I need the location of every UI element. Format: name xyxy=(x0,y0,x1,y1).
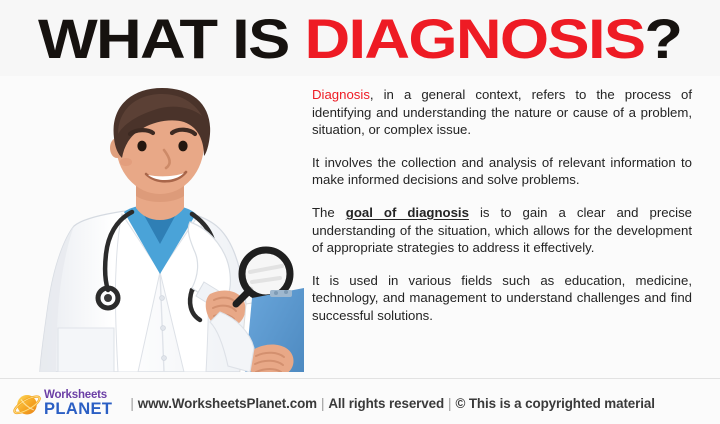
footer-separator-2: | xyxy=(444,396,455,411)
keyword-diagnosis: Diagnosis xyxy=(312,87,370,102)
paragraph-3: The goal of diagnosis is to gain a clear… xyxy=(312,204,692,257)
keyword-goal-of-diagnosis: goal of diagnosis xyxy=(346,205,469,220)
paragraph-2: It involves the collection and analysis … xyxy=(312,154,692,189)
paragraph-4: It is used in various fields such as edu… xyxy=(312,272,692,325)
paragraph-1-rest: , in a general context, refers to the pr… xyxy=(312,87,692,137)
definition-text-column: Diagnosis, in a general context, refers … xyxy=(312,86,692,325)
worksheets-planet-logo[interactable]: Worksheets PLANET xyxy=(12,389,112,419)
paragraph-3-before: The xyxy=(312,205,346,220)
copyright-icon: © xyxy=(455,396,465,411)
title-question-mark: ? xyxy=(645,7,682,70)
footer-bar: Worksheets PLANET |www.WorksheetsPlanet.… xyxy=(0,383,720,424)
footer-separator-0: | xyxy=(126,396,137,411)
clipboard-clip xyxy=(270,290,292,297)
footer-separator-1: | xyxy=(317,396,328,411)
footer-website[interactable]: www.WorksheetsPlanet.com xyxy=(138,396,317,411)
page-title: WHAT IS DIAGNOSIS? xyxy=(38,11,681,67)
title-part-red: DIAGNOSIS xyxy=(305,7,645,70)
doctor-illustration xyxy=(14,76,304,372)
footer-rights: All rights reserved xyxy=(328,396,444,411)
footer-divider xyxy=(0,378,720,379)
title-part-black: WHAT IS xyxy=(38,7,304,70)
logo-wordmark: Worksheets PLANET xyxy=(44,390,112,417)
footer-credits: |www.WorksheetsPlanet.com|All rights res… xyxy=(126,396,654,411)
title-banner: WHAT IS DIAGNOSIS? xyxy=(0,0,720,76)
paragraph-1: Diagnosis, in a general context, refers … xyxy=(312,86,692,139)
logo-bottom-line: PLANET xyxy=(44,401,112,418)
infographic-page: WHAT IS DIAGNOSIS? xyxy=(0,0,720,424)
head xyxy=(110,88,210,194)
planet-icon xyxy=(12,389,42,419)
footer-copyright-message: This is a copyrighted material xyxy=(469,396,655,411)
